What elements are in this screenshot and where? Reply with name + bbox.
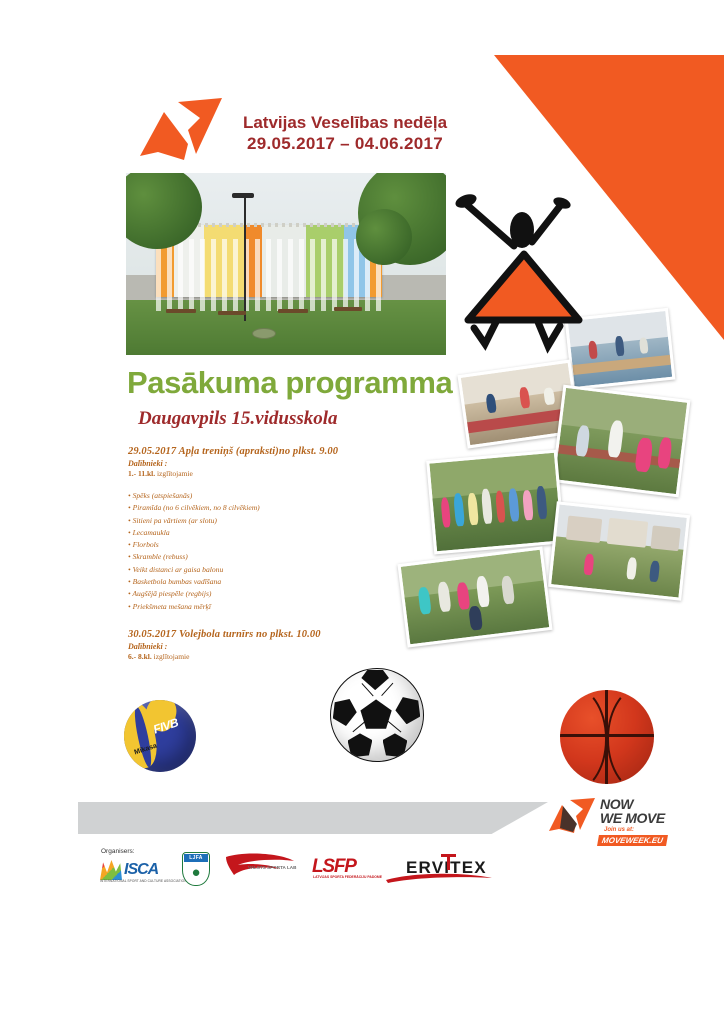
- list-item: Priekšmeta mešana mērķī: [128, 601, 398, 613]
- participants-label: Dalībnieki :: [128, 642, 398, 651]
- list-item: Skramble (rebuss): [128, 551, 398, 563]
- program-heading: Pasākuma programma: [127, 365, 452, 401]
- grades-rest: izglītojamie: [155, 469, 193, 478]
- lsfp-tagline: LATVIJAS SPORTA FEDERĀCIJU PADOME: [313, 875, 382, 879]
- grades-rest: izglītojamie: [152, 652, 190, 661]
- list-item: Spēks (atspiešanās): [128, 490, 398, 502]
- sponsor-logo-lsfp: LSFP LATVIJAS SPORTA FEDERĀCIJU PADOME: [312, 856, 392, 884]
- sponsor-logo-valsts-sporta-lab: VALSTS SPORTA LAB: [222, 853, 300, 885]
- program-details: 29.05.2017 Apļa treniņš (apraksti)no plk…: [128, 446, 398, 661]
- event-title: 30.05.2017 Volejbola turnīrs no plkst. 1…: [128, 629, 398, 640]
- participants-grades: 1.- 11.kl. izglītojamie: [128, 469, 398, 478]
- list-item: Sitieni pa vārtiem (ar slotu): [128, 515, 398, 527]
- ervitex-tee-bar-icon: [441, 854, 456, 857]
- isca-tagline: INTERNATIONAL SPORT AND CULTURE ASSOCIAT…: [100, 879, 172, 883]
- athlete-icon: ●: [191, 865, 200, 880]
- event-block-2: 30.05.2017 Volejbola turnīrs no plkst. 1…: [128, 629, 398, 661]
- isca-wordmark: ISCA: [124, 861, 158, 879]
- activity-list: Spēks (atspiešanās) Piramīda (no 6 cilvē…: [128, 490, 398, 613]
- list-item: Basketbola bumbas vadīšana: [128, 576, 398, 588]
- event-title: 29.05.2017 Apļa treniņš (apraksti)no plk…: [128, 446, 398, 457]
- valsts-wordmark: VALSTS SPORTA LAB: [248, 865, 296, 870]
- list-item: Augšējā piespēle (regbijs): [128, 588, 398, 600]
- poster-canvas: Latvijas Veselības nedēļa 29.05.2017 – 0…: [0, 0, 724, 1024]
- grades-bold: 1.- 11.kl.: [128, 469, 155, 478]
- list-item: Florbols: [128, 539, 398, 551]
- participants-label: Dalībnieki :: [128, 459, 398, 468]
- list-item: Piramīda (no 6 cilvēkiem, no 8 cilvēkiem…: [128, 502, 398, 514]
- sponsor-logo-ljfa: LJFA ●: [182, 852, 210, 886]
- event-block-1: 29.05.2017 Apļa treniņš (apraksti)no plk…: [128, 446, 398, 613]
- grades-bold: 6.- 8.kl.: [128, 652, 152, 661]
- participants-grades: 6.- 8.kl. izglītojamie: [128, 652, 398, 661]
- isca-fan-icon: [100, 860, 122, 880]
- ljfa-wordmark: LJFA: [184, 854, 208, 862]
- school-name-heading: Daugavpils 15.vidusskola: [138, 408, 338, 430]
- sponsor-logo-isca: ISCA INTERNATIONAL SPORT AND CULTURE ASS…: [100, 858, 172, 884]
- swoosh-icon: [384, 870, 494, 884]
- sponsor-logo-ervitex: ERVITEX: [400, 854, 492, 884]
- list-item: Lecamaukla: [128, 527, 398, 539]
- list-item: Veikt distanci ar gaisa balonu: [128, 564, 398, 576]
